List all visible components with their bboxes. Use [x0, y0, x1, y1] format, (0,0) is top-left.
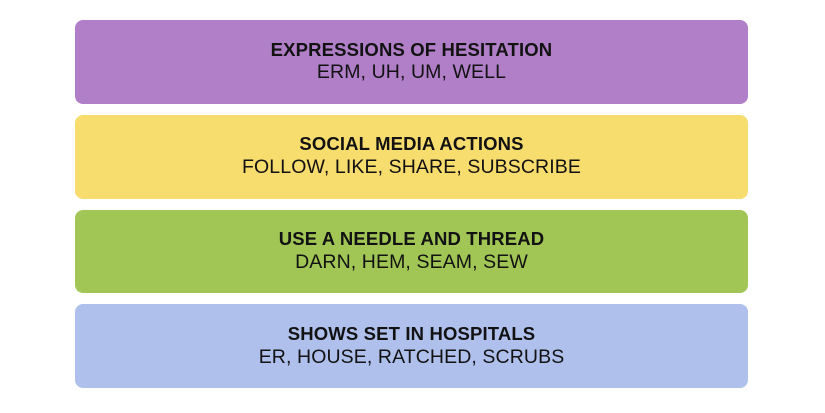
group-members-label: DARN, HEM, SEAM, SEW [295, 251, 528, 275]
group-category-label: SOCIAL MEDIA ACTIONS [299, 133, 523, 155]
group-row[interactable]: USE A NEEDLE AND THREAD DARN, HEM, SEAM,… [75, 210, 748, 294]
group-members-label: ERM, UH, UM, WELL [317, 61, 506, 85]
group-row[interactable]: SOCIAL MEDIA ACTIONS FOLLOW, LIKE, SHARE… [75, 115, 748, 199]
group-members-label: ER, HOUSE, RATCHED, SCRUBS [259, 346, 565, 370]
group-category-label: SHOWS SET IN HOSPITALS [288, 323, 536, 345]
group-category-label: USE A NEEDLE AND THREAD [279, 228, 545, 250]
group-row[interactable]: SHOWS SET IN HOSPITALS ER, HOUSE, RATCHE… [75, 304, 748, 388]
connections-solved-board: EXPRESSIONS OF HESITATION ERM, UH, UM, W… [75, 20, 748, 388]
group-members-label: FOLLOW, LIKE, SHARE, SUBSCRIBE [242, 156, 581, 180]
group-category-label: EXPRESSIONS OF HESITATION [271, 39, 553, 61]
group-row[interactable]: EXPRESSIONS OF HESITATION ERM, UH, UM, W… [75, 20, 748, 104]
